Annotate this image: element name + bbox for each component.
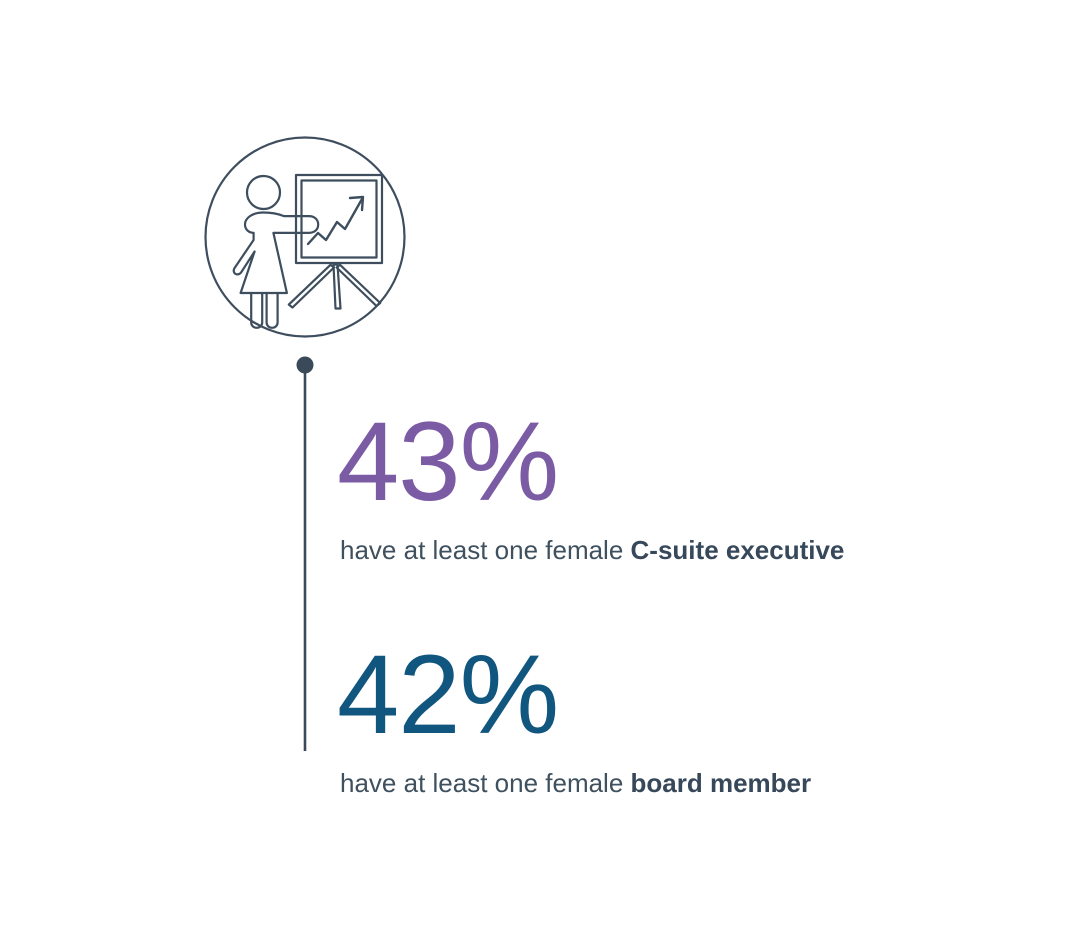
infographic-root: 43% have at least one female C-suite exe… bbox=[0, 0, 1080, 926]
stat-value-c-suite: 43% bbox=[337, 406, 1040, 518]
stat-value-board-member: 42% bbox=[337, 639, 1040, 751]
tripod-right-leg bbox=[337, 265, 381, 306]
stat-caption-board-member: have at least one female board member bbox=[340, 767, 1040, 800]
stat-caption-lead-c-suite: have at least one female bbox=[340, 535, 631, 565]
figure-right-leg bbox=[267, 293, 278, 328]
woman-presenting-chart-icon bbox=[204, 136, 406, 338]
flipchart-inner-frame bbox=[302, 181, 377, 258]
stat-caption-strong-board-member: board member bbox=[631, 768, 812, 798]
tripod-left-leg bbox=[289, 265, 334, 308]
stat-caption-lead-board-member: have at least one female bbox=[340, 768, 631, 798]
trend-arrow-line bbox=[308, 199, 362, 244]
stat-block-board-member: 42% have at least one female board membe… bbox=[340, 639, 1040, 800]
stat-block-c-suite: 43% have at least one female C-suite exe… bbox=[340, 406, 1040, 567]
figure-head bbox=[247, 176, 280, 209]
figure-body-and-arm bbox=[234, 213, 318, 294]
stat-list: 43% have at least one female C-suite exe… bbox=[340, 406, 1040, 799]
icon-ring bbox=[206, 138, 405, 337]
flipchart-outer-frame bbox=[296, 175, 382, 263]
stat-caption-strong-c-suite: C-suite executive bbox=[631, 535, 845, 565]
timeline-connector bbox=[290, 352, 322, 756]
stat-caption-c-suite: have at least one female C-suite executi… bbox=[340, 534, 1040, 567]
